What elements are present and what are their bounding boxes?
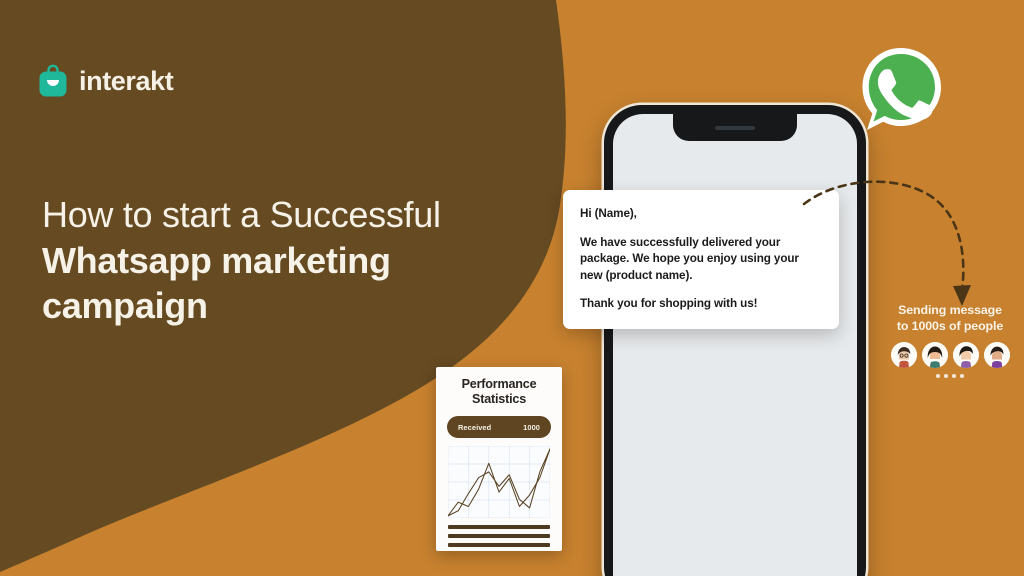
message-greeting: Hi (Name), (580, 206, 823, 223)
received-value: 1000 (523, 423, 540, 432)
avatar[interactable] (953, 342, 979, 368)
avatar[interactable] (922, 342, 948, 368)
poster-canvas: interakt How to start a Successful Whats… (0, 0, 1024, 576)
message-body: We have successfully delivered your pack… (580, 235, 823, 285)
loading-dots (878, 374, 1022, 379)
avatar[interactable] (891, 342, 917, 368)
performance-statistics-card: Performance Statistics Received 1000 (436, 367, 562, 551)
headline-line-2: Whatsapp marketing (42, 238, 572, 284)
sending-message-block: Sending message to 1000s of people (878, 303, 1022, 378)
avatar[interactable] (984, 342, 1010, 368)
brand-logo[interactable]: interakt (38, 64, 173, 98)
sending-line-1: Sending message (878, 303, 1022, 319)
performance-line-chart (448, 446, 550, 518)
text-bar (448, 543, 550, 547)
shopping-bag-icon (38, 64, 68, 98)
phone-speaker-icon (715, 126, 755, 130)
avatar-group (878, 342, 1022, 368)
phone-mockup (604, 105, 866, 576)
headline-line-3: campaign (42, 283, 572, 329)
received-label: Received (458, 423, 491, 432)
stats-text-bars (448, 525, 550, 547)
message-closing: Thank you for shopping with us! (580, 296, 823, 313)
sending-line-2: to 1000s of people (878, 319, 1022, 335)
phone-screen (613, 114, 857, 576)
dot (960, 374, 965, 379)
dot (936, 374, 941, 379)
whatsapp-logo-icon (855, 44, 947, 140)
phone-notch (673, 114, 797, 141)
stats-card-title-line-1: Performance (446, 377, 552, 392)
dot (952, 374, 957, 379)
headline-line-1: How to start a Successful (42, 192, 572, 238)
dot (944, 374, 949, 379)
stats-card-title-line-2: Statistics (446, 392, 552, 407)
received-stat-pill: Received 1000 (447, 416, 551, 438)
page-title: How to start a Successful Whatsapp marke… (42, 192, 572, 329)
whatsapp-message-bubble: Hi (Name), We have successfully delivere… (563, 190, 839, 329)
text-bar (448, 534, 550, 538)
text-bar (448, 525, 550, 529)
brand-name: interakt (79, 68, 173, 95)
